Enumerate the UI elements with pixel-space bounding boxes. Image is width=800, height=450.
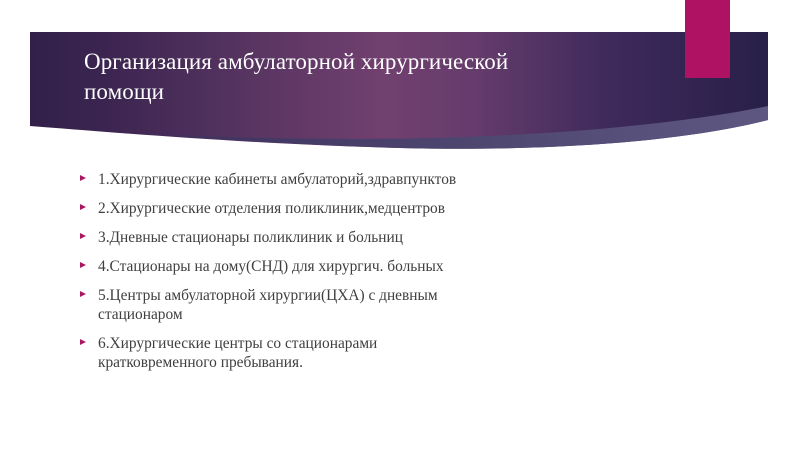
magenta-accent-rectangle <box>685 0 730 78</box>
triangle-right-icon <box>80 233 86 239</box>
list-item: 5.Центры амбулаторной хирургии(ЦХА) с дн… <box>78 286 678 324</box>
triangle-right-icon <box>80 339 86 345</box>
list-item-label: 2.Хирургические отделения поликлиник,мед… <box>98 199 678 218</box>
list-item: 2.Хирургические отделения поликлиник,мед… <box>78 199 678 218</box>
page-title-line-2: помощи <box>84 77 664 107</box>
page-title: Организация амбулаторной хирургической п… <box>84 47 664 107</box>
triangle-right-icon <box>80 204 86 210</box>
list-item-label: 6.Хирургические центры со стационарами <box>98 334 678 353</box>
list-item-label: 5.Центры амбулаторной хирургии(ЦХА) с дн… <box>98 286 678 305</box>
bullet-list: 1.Хирургические кабинеты амбулаторий,здр… <box>78 170 678 372</box>
list-item-label-continued: стационаром <box>98 306 183 323</box>
list-item: 4.Стационары на дому(СНД) для хирургич. … <box>78 257 678 276</box>
page-title-line-1: Организация амбулаторной хирургической <box>84 47 664 77</box>
list-item-label: 1.Хирургические кабинеты амбулаторий,здр… <box>98 170 678 189</box>
list-item-label: 3.Дневные стационары поликлиник и больни… <box>98 228 678 247</box>
triangle-right-icon <box>80 175 86 181</box>
list-item: 1.Хирургические кабинеты амбулаторий,здр… <box>78 170 678 189</box>
list-item: 6.Хирургические центры со стационарами к… <box>78 334 678 372</box>
triangle-right-icon <box>80 291 86 297</box>
triangle-right-icon <box>80 262 86 268</box>
list-item-label-continued: кратковременного пребывания. <box>98 354 303 371</box>
presentation-slide: Организация амбулаторной хирургической п… <box>0 0 800 450</box>
list-item: 3.Дневные стационары поликлиник и больни… <box>78 228 678 247</box>
list-item-label: 4.Стационары на дому(СНД) для хирургич. … <box>98 257 678 276</box>
